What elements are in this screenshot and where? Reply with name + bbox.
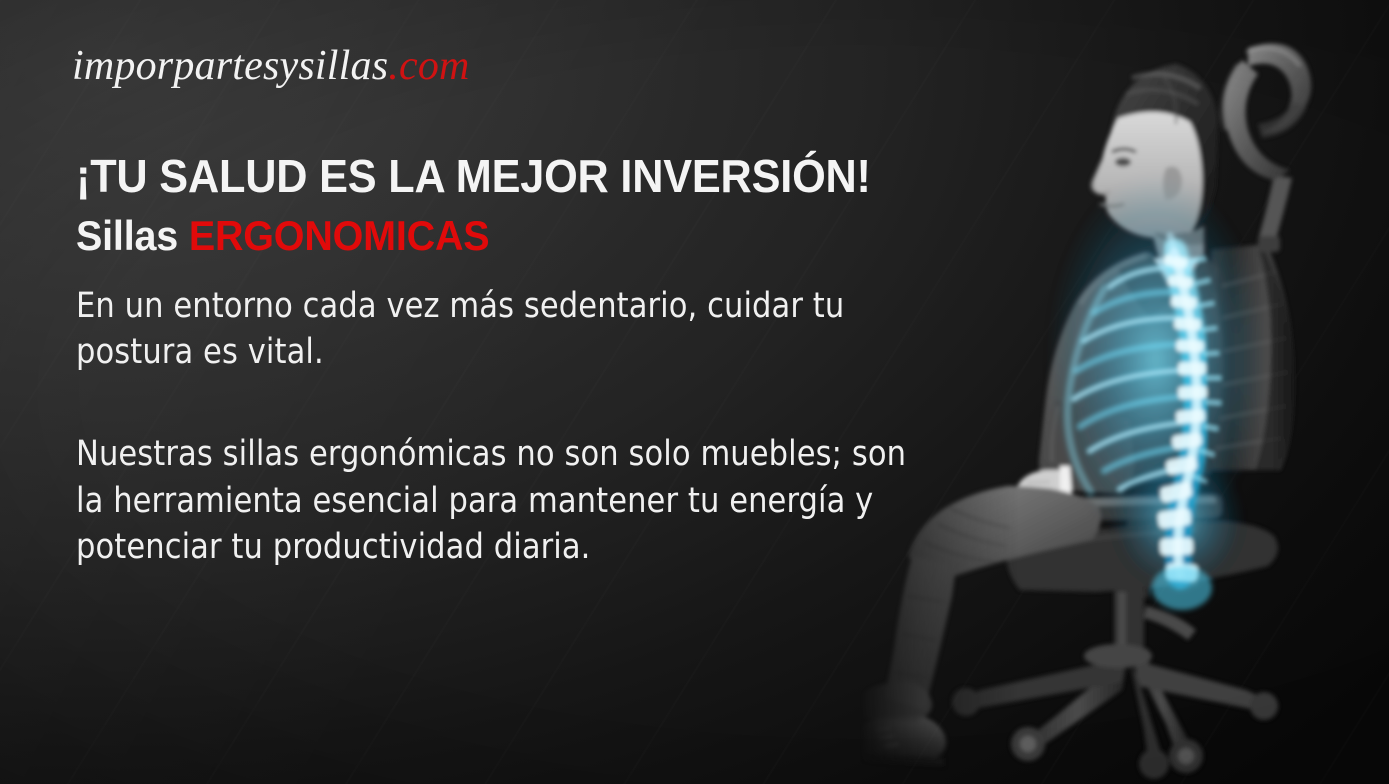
copy-block: ¡TU SALUD ES LA MEJOR INVERSIÓN! Sillas … xyxy=(76,152,956,571)
paragraph-1: En un entorno cada vez más sedentario, c… xyxy=(76,284,930,375)
paragraph-2: Nuestras sillas ergonómicas no son solo … xyxy=(76,431,930,571)
subheadline-white: Sillas xyxy=(76,212,189,259)
promo-banner: imporpartesysillas.com ¡TU SALUD ES LA M… xyxy=(0,0,1389,784)
subheadline-red: ERGONOMICAS xyxy=(189,212,490,259)
site-logo[interactable]: imporpartesysillas.com xyxy=(72,45,470,87)
headline: ¡TU SALUD ES LA MEJOR INVERSIÓN! xyxy=(76,152,903,201)
subheadline: Sillas ERGONOMICAS xyxy=(76,213,903,258)
person-shoes xyxy=(860,682,946,766)
chair-base xyxy=(952,644,1278,779)
logo-tld: .com xyxy=(388,43,469,89)
logo-name: imporpartesysillas xyxy=(72,43,388,89)
chair-headrest xyxy=(1223,44,1311,180)
